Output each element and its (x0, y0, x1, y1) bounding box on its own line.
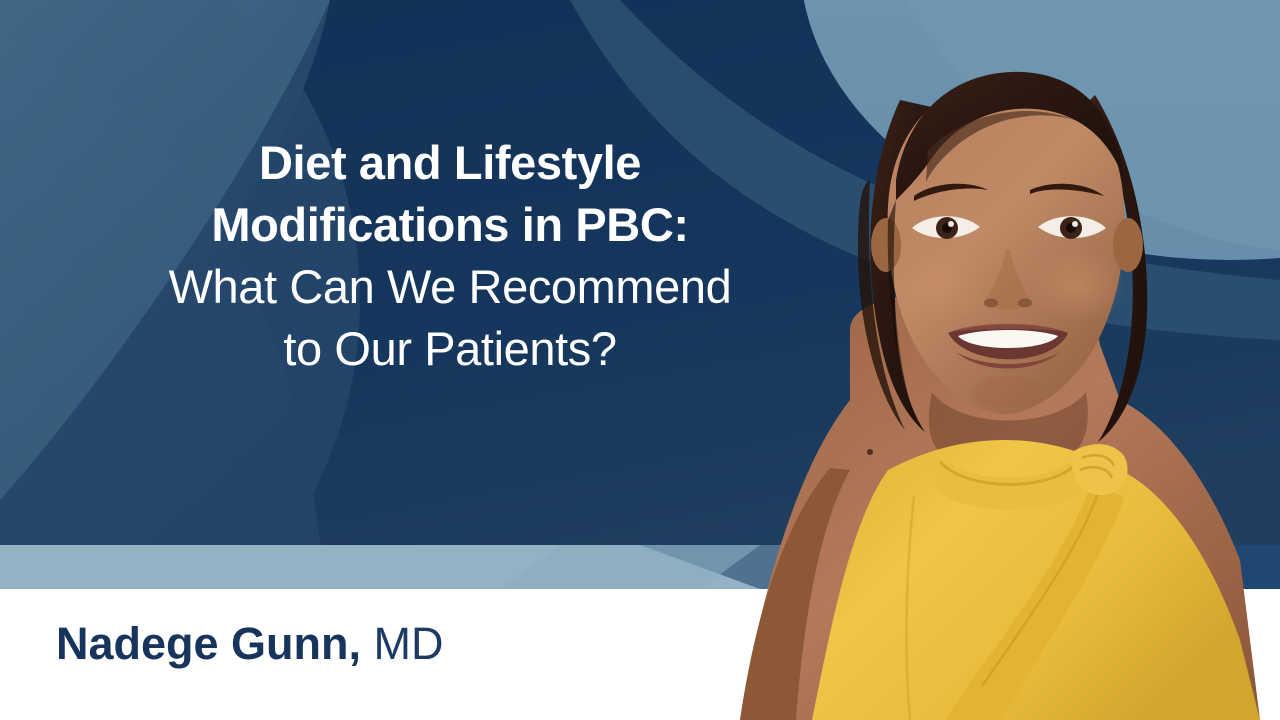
speaker-full-name: Nadege Gunn, (56, 618, 361, 669)
portrait-cheek-left (892, 247, 988, 323)
portrait-eye-highlight-left (948, 221, 954, 227)
portrait-nostril-left (984, 299, 998, 308)
portrait-illustration (700, 0, 1280, 720)
portrait-chin-shadow (972, 376, 1044, 408)
speaker-name: Nadege Gunn, MD (56, 618, 444, 670)
portrait-nostril-right (1018, 299, 1032, 308)
portrait-ear-left (871, 218, 901, 272)
portrait-cheek-right (1030, 247, 1126, 323)
portrait-eye-highlight-right (1072, 221, 1078, 227)
speaker-credentials: MD (374, 618, 444, 669)
speaker-portrait-photo (700, 0, 1280, 720)
presentation-title-slide: Diet and Lifestyle Modifications in PBC:… (0, 0, 1280, 720)
portrait-beauty-mark (867, 449, 873, 455)
